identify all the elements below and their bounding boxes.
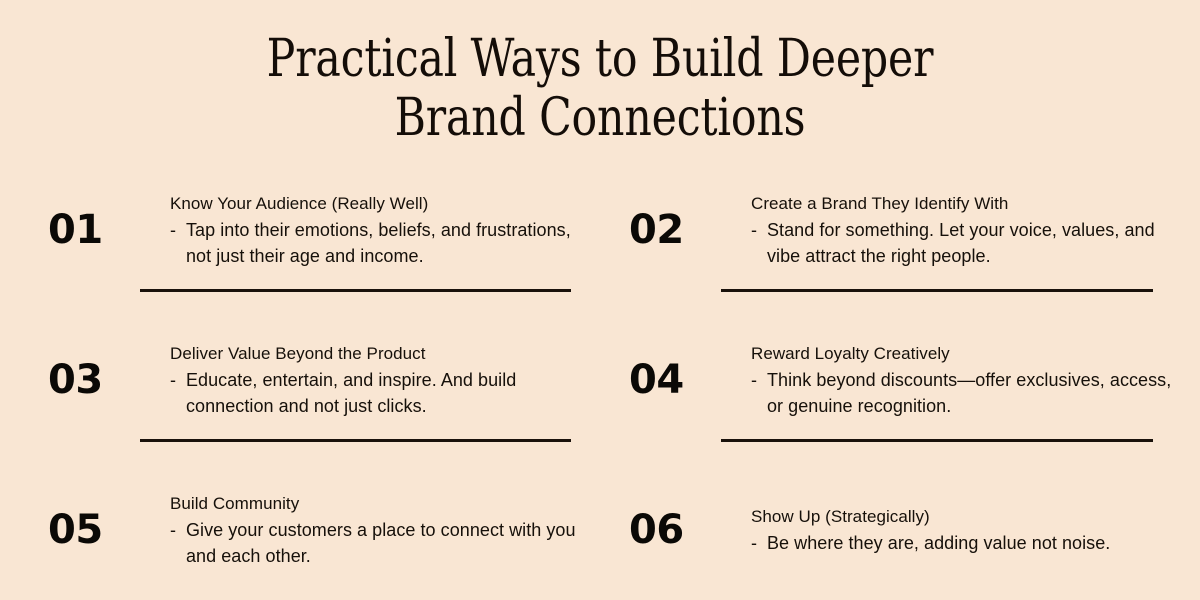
tip-bullet-03: - Educate, entertain, and inspire. And b… xyxy=(170,367,600,419)
tip-bullet-01: - Tap into their emotions, beliefs, and … xyxy=(170,217,600,269)
divider-right-1 xyxy=(721,289,1153,292)
tip-heading-03: Deliver Value Beyond the Product xyxy=(170,341,600,366)
tip-item-06: 06 Show Up (Strategically) - Be where th… xyxy=(625,470,1181,590)
tip-bullet-text-04: Think beyond discounts—offer exclusives,… xyxy=(767,367,1181,419)
page-title-line-2: Brand Connections xyxy=(108,89,1092,148)
tip-heading-01: Know Your Audience (Really Well) xyxy=(170,191,600,216)
tip-heading-02: Create a Brand They Identify With xyxy=(751,191,1181,216)
divider-right-2 xyxy=(721,439,1153,442)
tip-item-05: 05 Build Community - Give your customers… xyxy=(44,470,600,590)
tips-grid: 01 Know Your Audience (Really Well) - Ta… xyxy=(0,170,1200,590)
tip-bullet-text-06: Be where they are, adding value not nois… xyxy=(767,530,1181,556)
tip-number-01: 01 xyxy=(44,210,170,250)
tip-content-03: Deliver Value Beyond the Product - Educa… xyxy=(170,341,600,419)
page-title-line-1: Practical Ways to Build Deeper xyxy=(108,30,1092,89)
tip-content-05: Build Community - Give your customers a … xyxy=(170,491,600,569)
tip-item-03: 03 Deliver Value Beyond the Product - Ed… xyxy=(44,320,600,440)
tip-bullet-text-03: Educate, entertain, and inspire. And bui… xyxy=(186,367,600,419)
bullet-dash-icon: - xyxy=(170,367,186,393)
tip-content-06: Show Up (Strategically) - Be where they … xyxy=(751,504,1181,556)
tip-item-02: 02 Create a Brand They Identify With - S… xyxy=(625,170,1181,290)
bullet-dash-icon: - xyxy=(751,367,767,393)
tip-number-06: 06 xyxy=(625,510,751,550)
bullet-dash-icon: - xyxy=(751,217,767,243)
tip-number-04: 04 xyxy=(625,360,751,400)
tip-bullet-text-01: Tap into their emotions, beliefs, and fr… xyxy=(186,217,600,269)
tip-bullet-06: - Be where they are, adding value not no… xyxy=(751,530,1181,556)
tip-number-03: 03 xyxy=(44,360,170,400)
tip-bullet-04: - Think beyond discounts—offer exclusive… xyxy=(751,367,1181,419)
tip-bullet-02: - Stand for something. Let your voice, v… xyxy=(751,217,1181,269)
tip-content-04: Reward Loyalty Creatively - Think beyond… xyxy=(751,341,1181,419)
tips-column-right: 02 Create a Brand They Identify With - S… xyxy=(625,170,1181,590)
tip-item-04: 04 Reward Loyalty Creatively - Think bey… xyxy=(625,320,1181,440)
divider-left-1 xyxy=(140,289,571,292)
tip-bullet-text-02: Stand for something. Let your voice, val… xyxy=(767,217,1181,269)
bullet-dash-icon: - xyxy=(751,530,767,556)
page-title: Practical Ways to Build Deeper Brand Con… xyxy=(0,30,1200,148)
tip-bullet-text-05: Give your customers a place to connect w… xyxy=(186,517,600,569)
tip-item-01: 01 Know Your Audience (Really Well) - Ta… xyxy=(44,170,600,290)
tip-heading-04: Reward Loyalty Creatively xyxy=(751,341,1181,366)
tip-content-01: Know Your Audience (Really Well) - Tap i… xyxy=(170,191,600,269)
tip-bullet-05: - Give your customers a place to connect… xyxy=(170,517,600,569)
tip-number-05: 05 xyxy=(44,510,170,550)
tip-heading-05: Build Community xyxy=(170,491,600,516)
tip-content-02: Create a Brand They Identify With - Stan… xyxy=(751,191,1181,269)
bullet-dash-icon: - xyxy=(170,517,186,543)
divider-left-2 xyxy=(140,439,571,442)
tip-heading-06: Show Up (Strategically) xyxy=(751,504,1181,529)
bullet-dash-icon: - xyxy=(170,217,186,243)
infographic-poster: Practical Ways to Build Deeper Brand Con… xyxy=(0,0,1200,600)
tip-number-02: 02 xyxy=(625,210,751,250)
tips-column-left: 01 Know Your Audience (Really Well) - Ta… xyxy=(44,170,600,590)
